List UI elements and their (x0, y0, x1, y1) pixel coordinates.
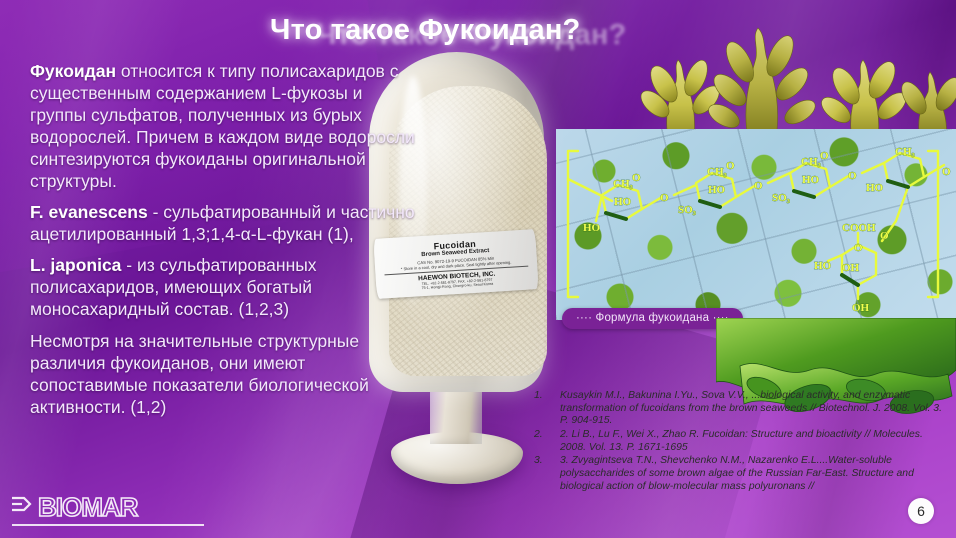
presentation-slide: Что такое Фукоидан? Что такое Фукоидан? (0, 0, 956, 538)
biomar-logo-icon (10, 494, 36, 520)
fucoidan-formula-image: CH₃ HO O HO O SO₃ CH₃ HO O O SO₃ CH₃ HO … (556, 129, 956, 320)
formula-label-o: O (726, 160, 735, 172)
formula-label-ch3: CH₃ (707, 166, 728, 178)
formula-label-o-link: O (660, 192, 669, 204)
formula-label-ch3: CH₃ (895, 146, 916, 158)
formula-label-o: O (632, 172, 641, 184)
paragraph: Несмотря на значительные структурные раз… (30, 330, 420, 418)
formula-label-o: O (942, 166, 951, 178)
paragraph-lead: F. evanescens (30, 202, 148, 222)
paragraph-text: L. japonica - из сульфатированных полиса… (30, 254, 420, 320)
body-text-column: относится к типу полисахаридов с существ… (30, 60, 420, 427)
formula-label-o-link: O (880, 230, 889, 242)
formula-label-oh: OH (852, 302, 870, 314)
reference-number: 1. (534, 390, 560, 428)
reference-item: 2. 2. Li B., Lu F., Wei X., Zhao R. Fuco… (534, 429, 946, 454)
reference-text: 2. Li B., Lu F., Wei X., Zhao R. Fucoida… (560, 429, 946, 454)
formula-label-ho: HO (866, 182, 884, 194)
paragraph: - сульфатированный и частично ацетилиров… (30, 201, 420, 245)
formula-label-cooh: COOH (842, 222, 876, 234)
formula-label-ho-terminal: HO (583, 222, 601, 234)
paragraph: - из сульфатированных полисахаридов, име… (30, 254, 420, 320)
bottle-neck (430, 384, 482, 444)
formula-label-ho: HO (802, 174, 820, 186)
reference-text: 3. Zvyagintseva T.N., Shevchenko N.M., N… (560, 455, 946, 493)
paragraph-rest: Несмотря на значительные структурные раз… (30, 331, 369, 417)
reference-text: Kusaykin M.I., Bakunina I.Yu., Sova V.V.… (560, 390, 946, 428)
formula-label-ch3: CH₃ (613, 178, 634, 190)
formula-label-ho: HO (814, 260, 832, 272)
formula-label-so3: SO₃ (772, 192, 791, 204)
formula-label-ch3: CH₃ (801, 156, 822, 168)
reference-item: 1. Kusaykin M.I., Bakunina I.Yu., Sova V… (534, 390, 946, 428)
references-ordered-list: 1. Kusaykin M.I., Bakunina I.Yu., Sova V… (534, 390, 946, 494)
formula-label-ho: HO (614, 196, 632, 208)
paragraph-lead: Фукоидан (30, 61, 116, 81)
formula-label-so3: SO₃ (678, 204, 697, 216)
reference-number: 3. (534, 455, 560, 493)
formula-label-oh: OH (842, 262, 860, 274)
paragraph: относится к типу полисахаридов с существ… (30, 60, 420, 192)
formula-label-o-link: O (848, 170, 857, 182)
paragraph-text: Несмотря на значительные структурные раз… (30, 330, 420, 418)
formula-label-o: O (854, 242, 863, 254)
formula-label-ho: HO (708, 184, 726, 196)
formula-label-o-link: O (754, 180, 763, 192)
paragraph-lead: L. japonica (30, 255, 121, 275)
biomar-watermark: BIOMAR (10, 488, 210, 532)
seaweed-icon (620, 0, 956, 140)
formula-label-o: O (820, 150, 829, 162)
biomar-watermark-text: BIOMAR (38, 492, 137, 523)
paragraph-text: F. evanescens - сульфатированный и части… (30, 201, 420, 245)
biomar-watermark-rule (12, 524, 204, 526)
page-number-badge: 6 (908, 498, 934, 524)
reference-item: 3. 3. Zvyagintseva T.N., Shevchenko N.M.… (534, 455, 946, 493)
brown-seaweed-photo (620, 0, 956, 140)
chemical-structure-diagram: CH₃ HO O HO O SO₃ CH₃ HO O O SO₃ CH₃ HO … (556, 129, 956, 320)
references-list: 1. Kusaykin M.I., Bakunina I.Yu., Sova V… (534, 390, 946, 495)
reference-number: 2. (534, 429, 560, 454)
paragraph-text: Фукоидан относится к типу полисахаридов … (30, 60, 420, 192)
